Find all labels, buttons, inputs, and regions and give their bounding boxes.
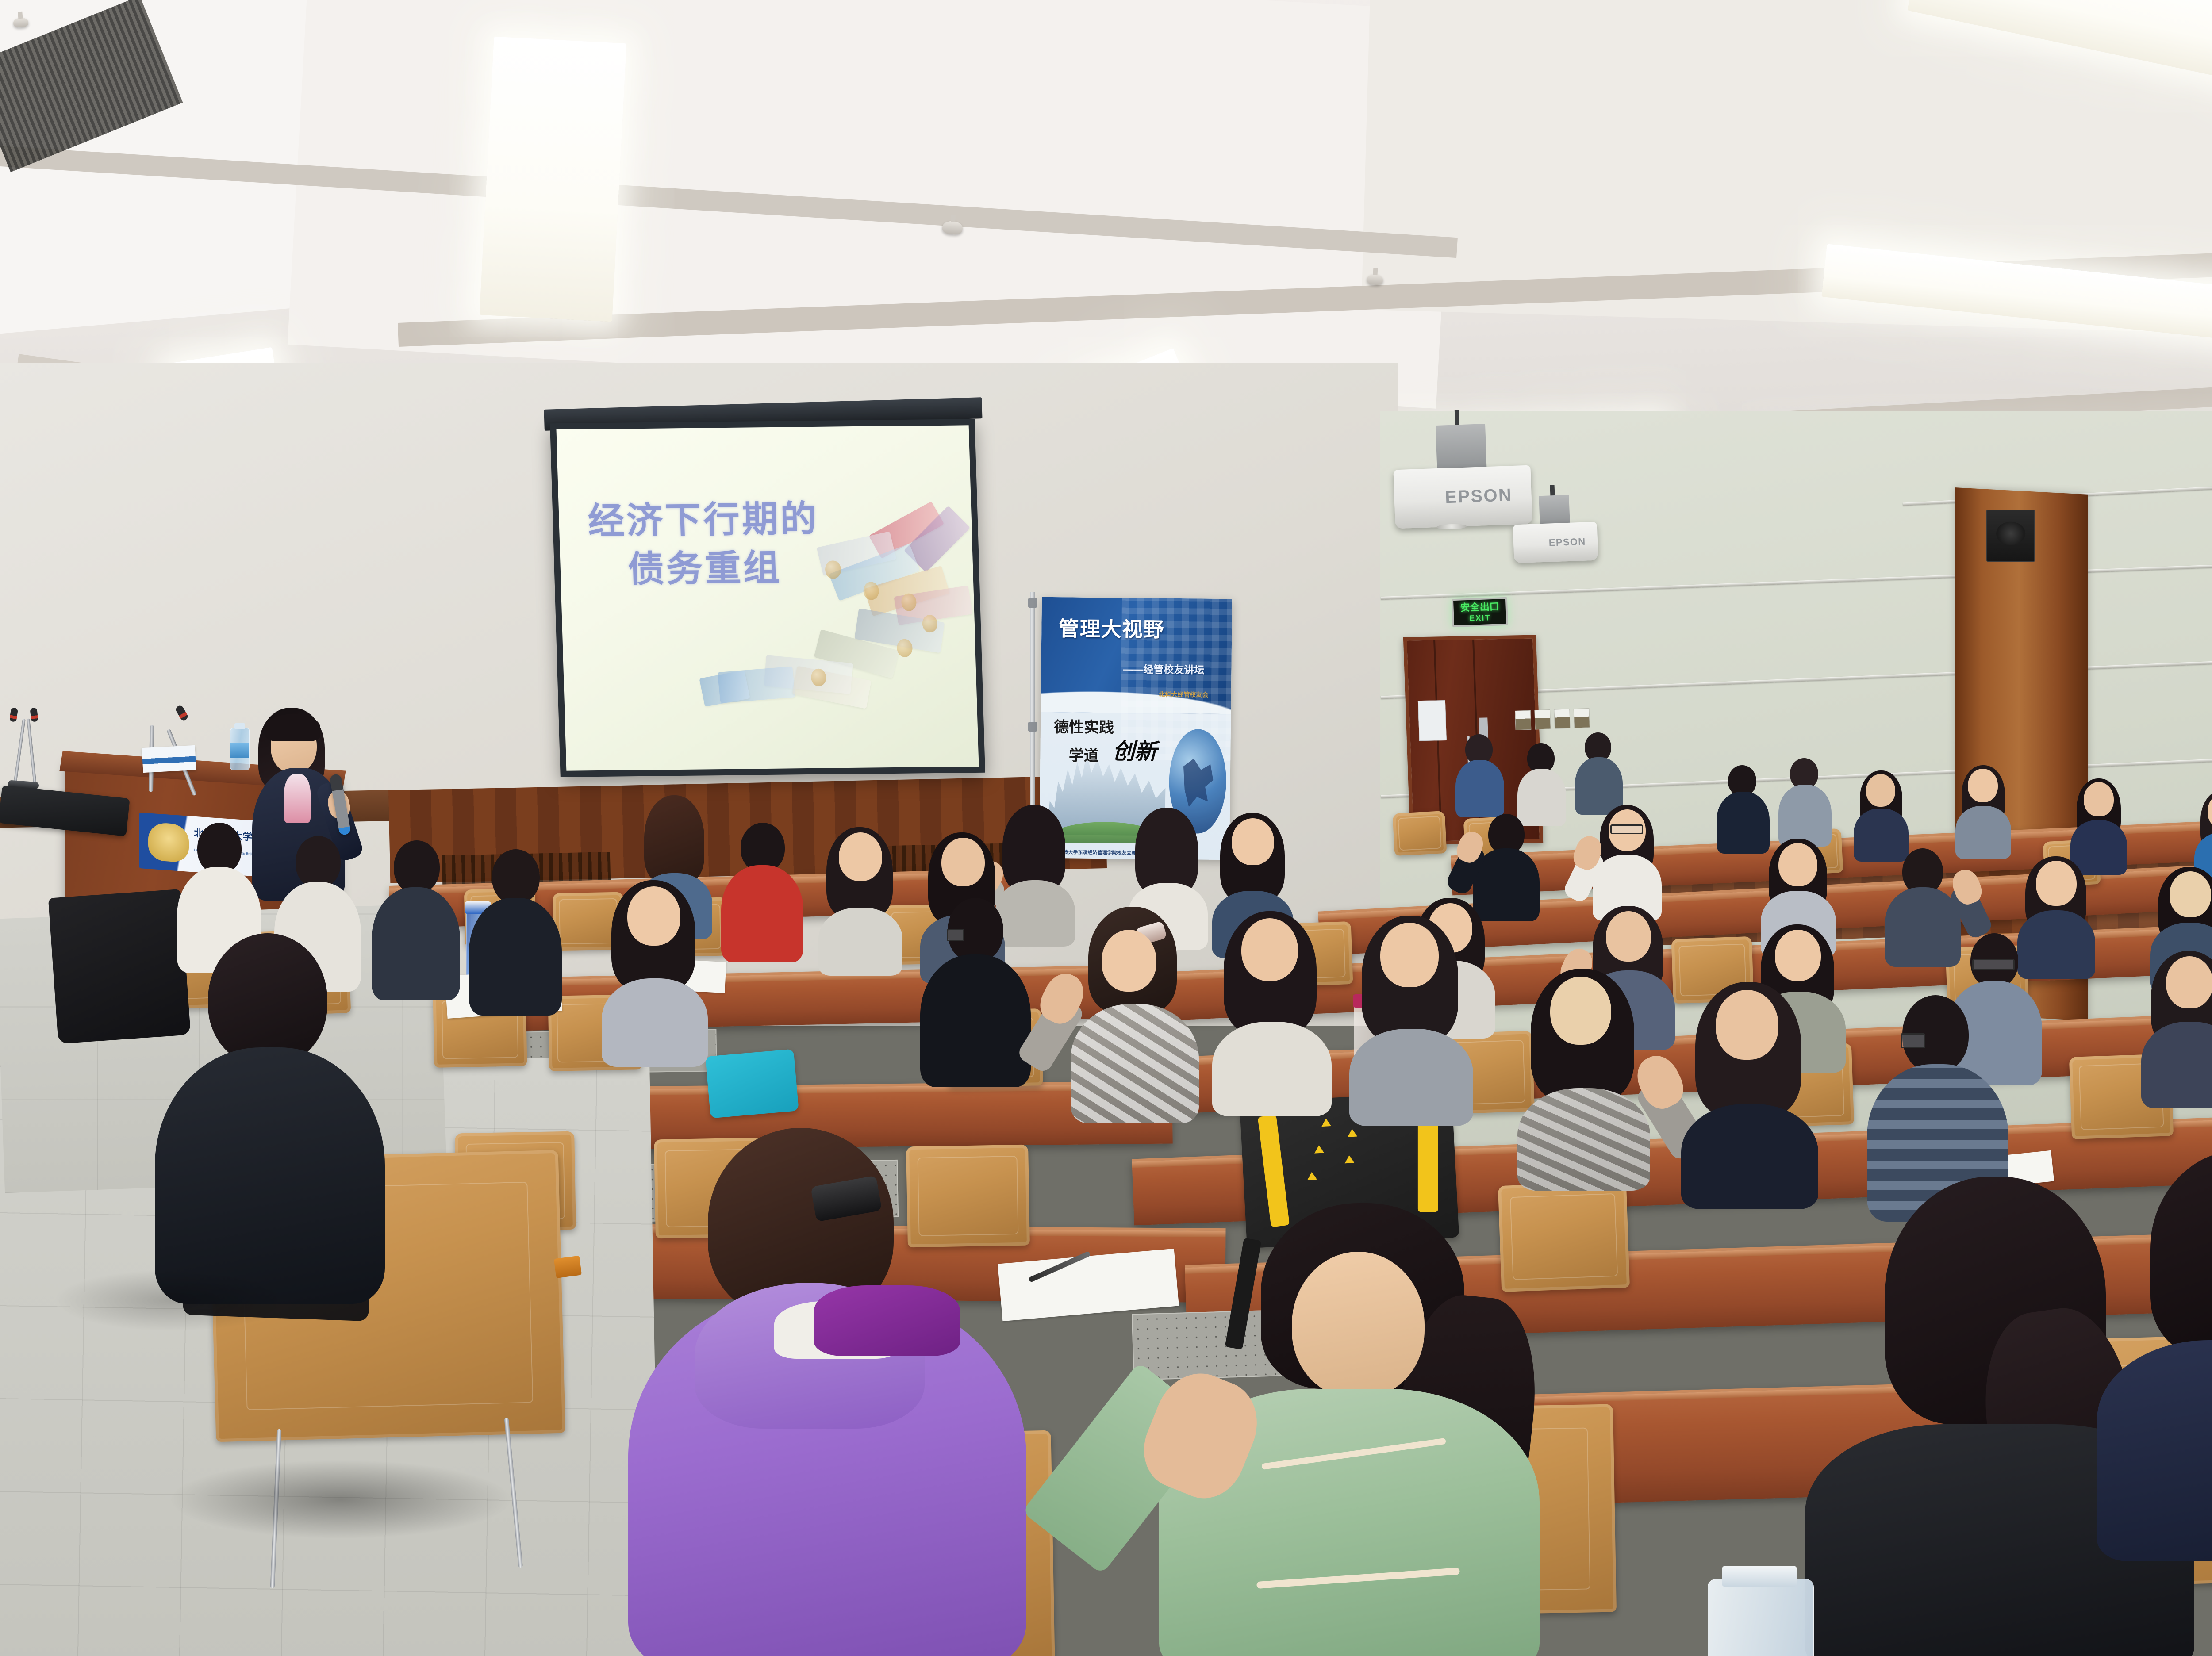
chair-shadow (168, 1460, 513, 1539)
standee-pole-joint-top (1028, 598, 1037, 608)
podium-water-bottle[interactable] (230, 728, 250, 770)
backpack-logo-dot (1344, 1155, 1355, 1163)
head (1380, 923, 1439, 987)
ceiling-projector-1: EPSON (1392, 422, 1532, 529)
torso (1212, 1022, 1332, 1116)
foreground-person-purple-hoodie (628, 1128, 1026, 1656)
torso (1349, 1029, 1473, 1126)
teal-handbag[interactable] (705, 1049, 799, 1119)
head (941, 838, 985, 886)
head (2166, 956, 2212, 1008)
audience-member (1681, 982, 1818, 1194)
foreground-person-right-navy (2097, 1150, 2212, 1548)
torso (1455, 760, 1504, 817)
hair (644, 795, 704, 884)
head (1778, 843, 1817, 886)
hoodie-scarf (814, 1285, 960, 1356)
torso (1681, 1104, 1818, 1209)
coin (922, 615, 937, 632)
head (2170, 871, 2211, 917)
wall-outlet[interactable] (1534, 709, 1551, 729)
standee-title: 管理大视野 (1059, 613, 1165, 644)
torso (372, 887, 460, 1000)
backpack-logo-dot (1307, 1172, 1317, 1180)
audience-member (1854, 770, 1909, 857)
wall-outlet[interactable] (1515, 710, 1531, 730)
standee-slogan-line-3: 创新 (1113, 733, 1157, 766)
ceiling-light-1 (480, 37, 627, 322)
foreground-person-green-jacket (1159, 1203, 1540, 1656)
podium-nameplate (142, 745, 196, 773)
head (208, 933, 327, 1066)
head (394, 840, 440, 893)
audience-member (1455, 734, 1504, 814)
head (1606, 911, 1651, 962)
presenter-inner-top (284, 774, 311, 823)
audience-member (1717, 765, 1770, 849)
exit-sign-label-cn: 安全出口 (1460, 602, 1499, 613)
chair-armrest-right (554, 1256, 582, 1278)
backpack-logo-dot (1347, 1129, 1357, 1137)
projector-mount (1539, 495, 1570, 526)
torso (1071, 1004, 1199, 1123)
audience-member (2070, 778, 2127, 869)
glasses (1901, 1033, 1925, 1048)
projector-brand-label: EPSON (1548, 535, 1598, 548)
audience-member (920, 898, 1031, 1084)
torso (1517, 1088, 1650, 1191)
torso (602, 978, 708, 1067)
head (1866, 774, 1895, 807)
backpack-logo-dot (1314, 1145, 1324, 1154)
foreground-person-black-top (155, 933, 385, 1296)
door-notice-paper (1418, 700, 1447, 741)
head (1241, 918, 1298, 981)
audience-member (1349, 916, 1473, 1115)
audience-member (721, 823, 803, 960)
wall-outlet[interactable] (1574, 708, 1590, 728)
glasses (947, 929, 964, 941)
torso (469, 898, 562, 1016)
projector-mount (1436, 424, 1486, 472)
head (1775, 930, 1821, 981)
standee-slogan-line-2: 学道 (1069, 744, 1099, 766)
torso (818, 908, 902, 976)
coin (825, 561, 841, 579)
banknotes-graphic (691, 514, 979, 756)
audience-member-patterned-top (1071, 907, 1199, 1115)
hair (1002, 805, 1065, 892)
audience-member (1517, 969, 1650, 1177)
foreground-white-bottle[interactable] (1708, 1579, 1814, 1656)
head (2036, 861, 2077, 906)
standee-pole-joint-mid (1028, 722, 1037, 732)
banknote (792, 666, 872, 709)
chair[interactable] (1393, 811, 1447, 856)
audience-member (1575, 732, 1623, 812)
torso (1955, 806, 2011, 859)
wall-outlet[interactable] (1554, 709, 1570, 729)
foreground-bottle-cap (1722, 1566, 1797, 1587)
exit-sign-label-en: EXIT (1469, 613, 1491, 622)
head (1968, 769, 1998, 802)
audience-member (1517, 743, 1566, 823)
head (1292, 1252, 1425, 1398)
audience-member (1955, 765, 2011, 854)
glasses (1972, 959, 2015, 970)
head (197, 823, 242, 874)
audience-member (602, 880, 708, 1057)
audience-member (1212, 911, 1332, 1106)
audience-member (2141, 951, 2212, 1101)
head (296, 836, 341, 888)
audience-member (818, 827, 902, 967)
audience-member (1593, 805, 1662, 911)
audience-member (372, 840, 460, 995)
projector-rod (1454, 410, 1459, 425)
glasses (1610, 824, 1643, 834)
ceiling-projector-2: EPSON (1512, 494, 1598, 563)
backpack-logo-dot (1321, 1118, 1331, 1127)
standee-slogan-line-1: 德性实践 (1054, 715, 1114, 737)
torso (721, 865, 803, 962)
head (1102, 930, 1156, 992)
presenter-hair-front (265, 714, 320, 741)
hair (2150, 1150, 2212, 1358)
torso (920, 954, 1031, 1087)
wall-speaker (1986, 510, 2035, 562)
chair-shadow (53, 1269, 292, 1331)
head (627, 886, 680, 946)
head (1232, 818, 1274, 865)
water-bottle-label (230, 743, 249, 758)
lecture-hall-photo: 经济下行期的 债务重组 (0, 0, 2212, 1656)
projector-rod (1550, 485, 1555, 496)
torso (2097, 1340, 2212, 1561)
head (839, 832, 882, 881)
torso (2141, 1022, 2212, 1108)
head (2084, 782, 2114, 816)
standee-organizer: 北科大经管校友会 (1159, 690, 1208, 699)
audience-member (1778, 758, 1832, 842)
chair-backrest (1393, 811, 1447, 856)
projection-screen: 经济下行期的 债务重组 (550, 419, 985, 777)
head (1550, 977, 1611, 1045)
projection-screen-surface: 经济下行期的 债务重组 (556, 425, 979, 770)
audience-member (469, 849, 562, 1008)
head (1716, 990, 1778, 1060)
coin (901, 594, 917, 611)
projector-body: EPSON (1513, 522, 1598, 563)
standee-subtitle: ——经管校友讲坛 (1123, 660, 1204, 676)
torso (155, 1047, 385, 1304)
exit-sign: 安全出口 EXIT (1452, 597, 1508, 627)
wall-outlets[interactable] (1515, 708, 1590, 730)
torso (1778, 785, 1832, 847)
hair (1135, 808, 1198, 894)
head (492, 849, 540, 904)
